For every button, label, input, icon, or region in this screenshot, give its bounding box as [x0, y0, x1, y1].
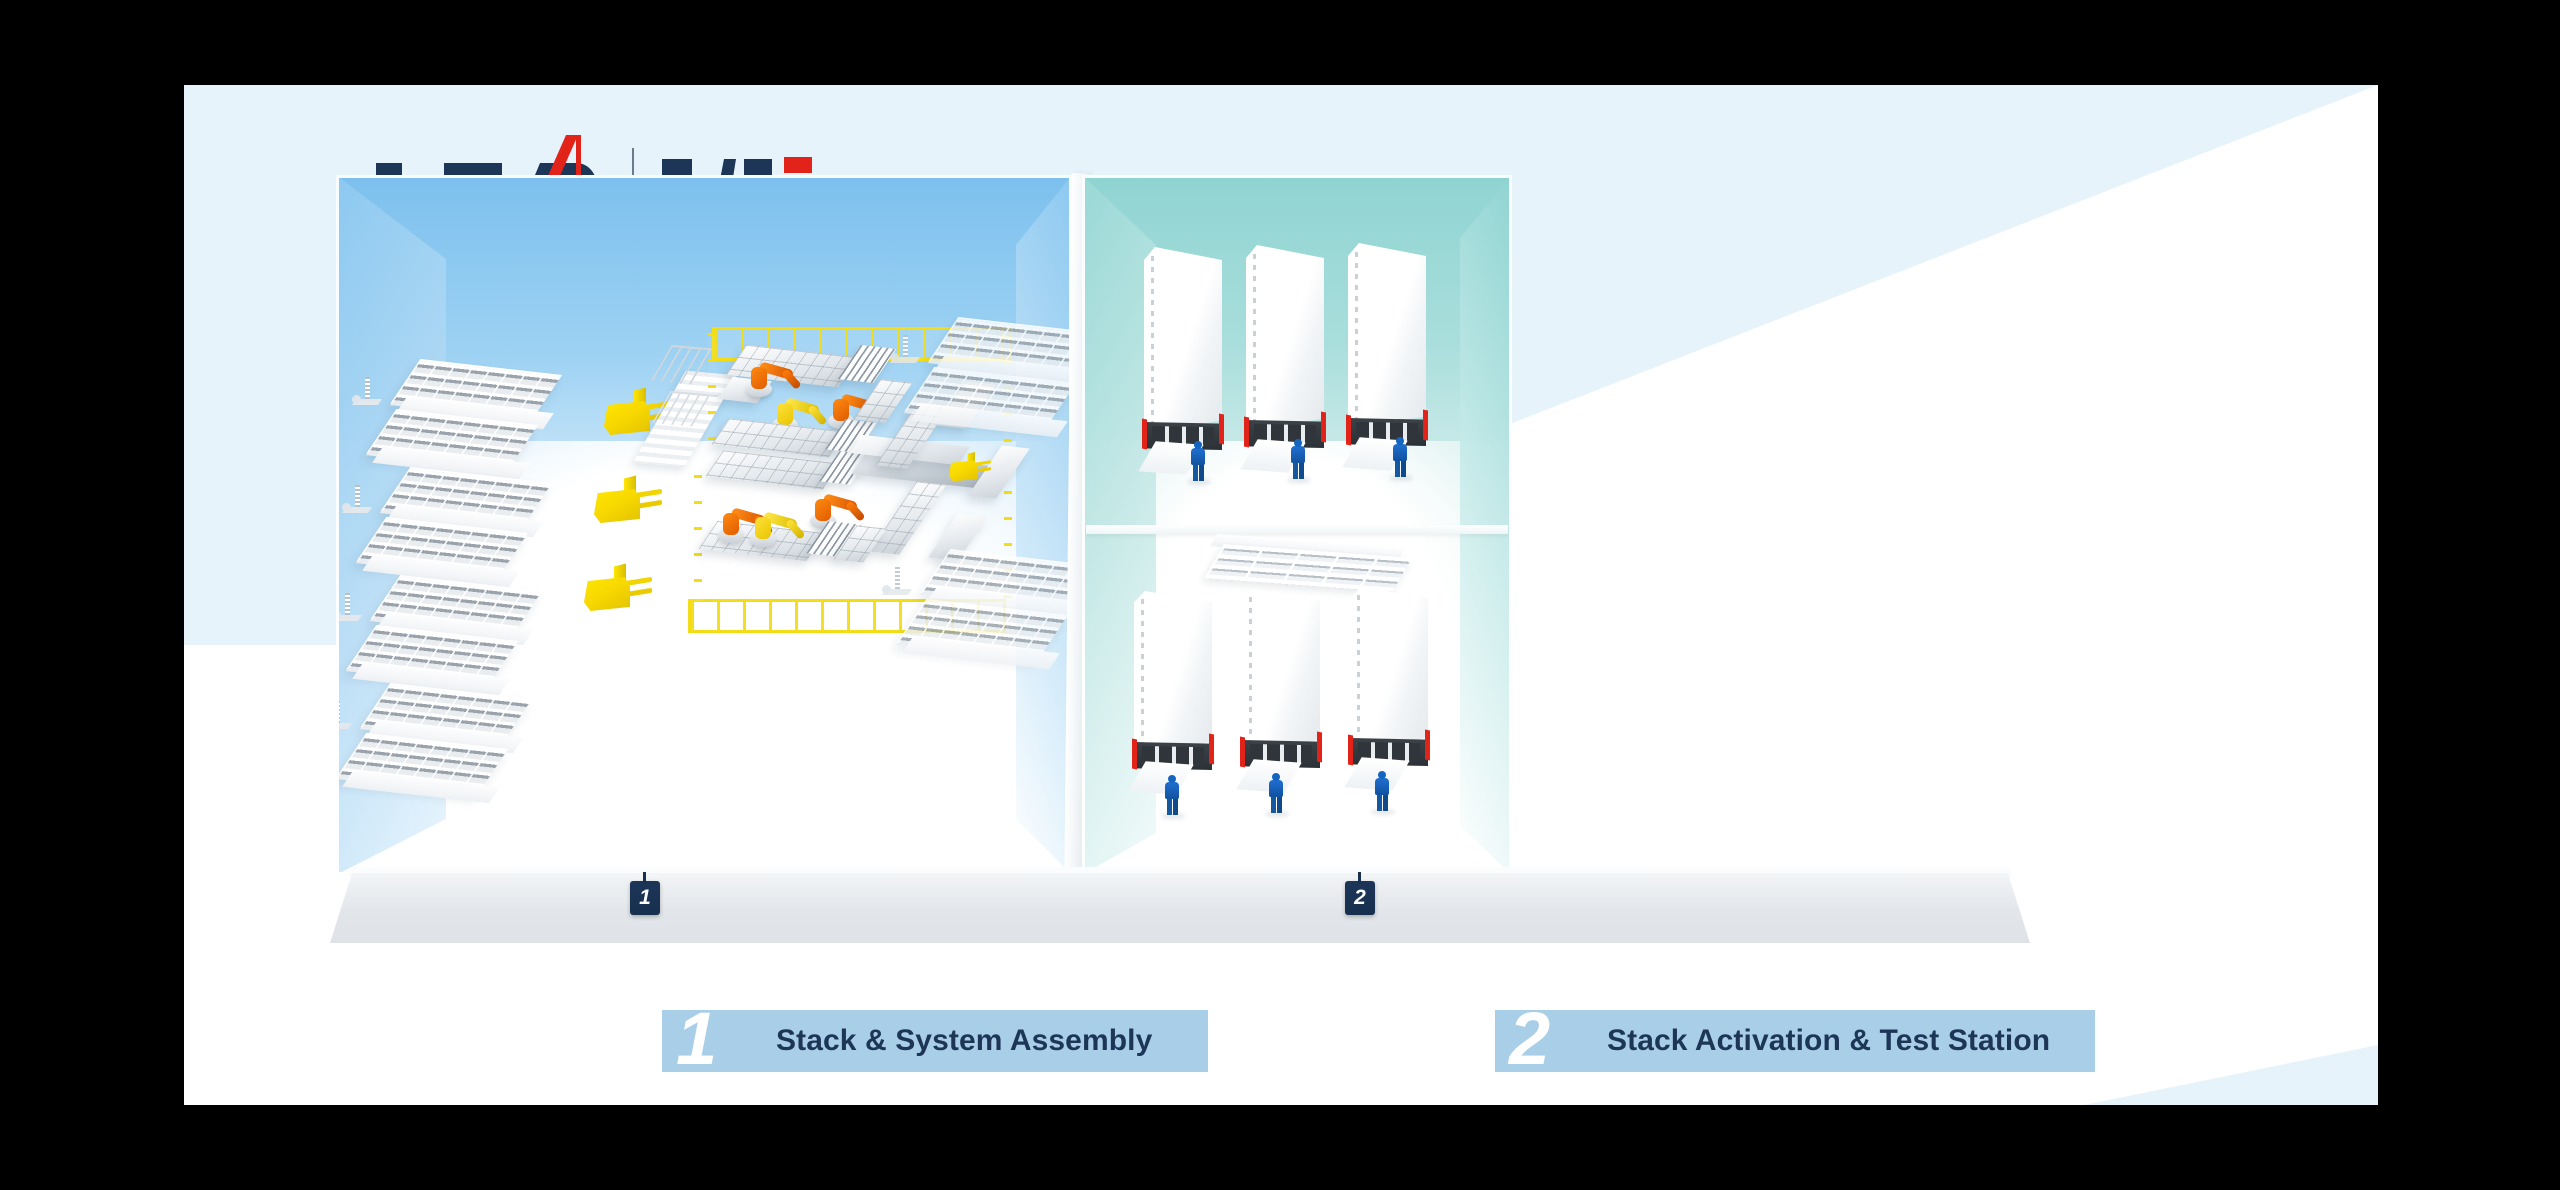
zone-1-room	[336, 175, 1072, 875]
zone-2-rim	[1082, 175, 1512, 875]
slide-canvas: 1 2 1 Stack & System Assembly 2 Stack Ac…	[184, 85, 2378, 1105]
caption-label-2: Stack Activation & Test Station	[1607, 1024, 2050, 1058]
zone-badge-2[interactable]: 2	[1345, 881, 1375, 915]
caption-bar-1[interactable]: 1 Stack & System Assembly	[662, 1010, 1208, 1072]
base-plinth	[330, 873, 2030, 943]
caption-number-1: 1	[676, 1006, 715, 1072]
zone-1-rim	[336, 175, 1072, 875]
factory-layout-render: 1 2 1 Stack & System Assembly 2 Stack Ac…	[184, 85, 2378, 1105]
zone-badge-1[interactable]: 1	[630, 881, 660, 915]
caption-label-1: Stack & System Assembly	[776, 1024, 1152, 1058]
zone-badge-pin	[1358, 872, 1361, 883]
zone-badge-1-label: 1	[639, 886, 651, 910]
zone-2-room	[1082, 175, 1512, 875]
zone-badge-pin	[643, 872, 646, 883]
caption-number-2: 2	[1509, 1006, 1548, 1072]
zone-badge-2-label: 2	[1354, 886, 1366, 910]
caption-bar-2[interactable]: 2 Stack Activation & Test Station	[1495, 1010, 2095, 1072]
